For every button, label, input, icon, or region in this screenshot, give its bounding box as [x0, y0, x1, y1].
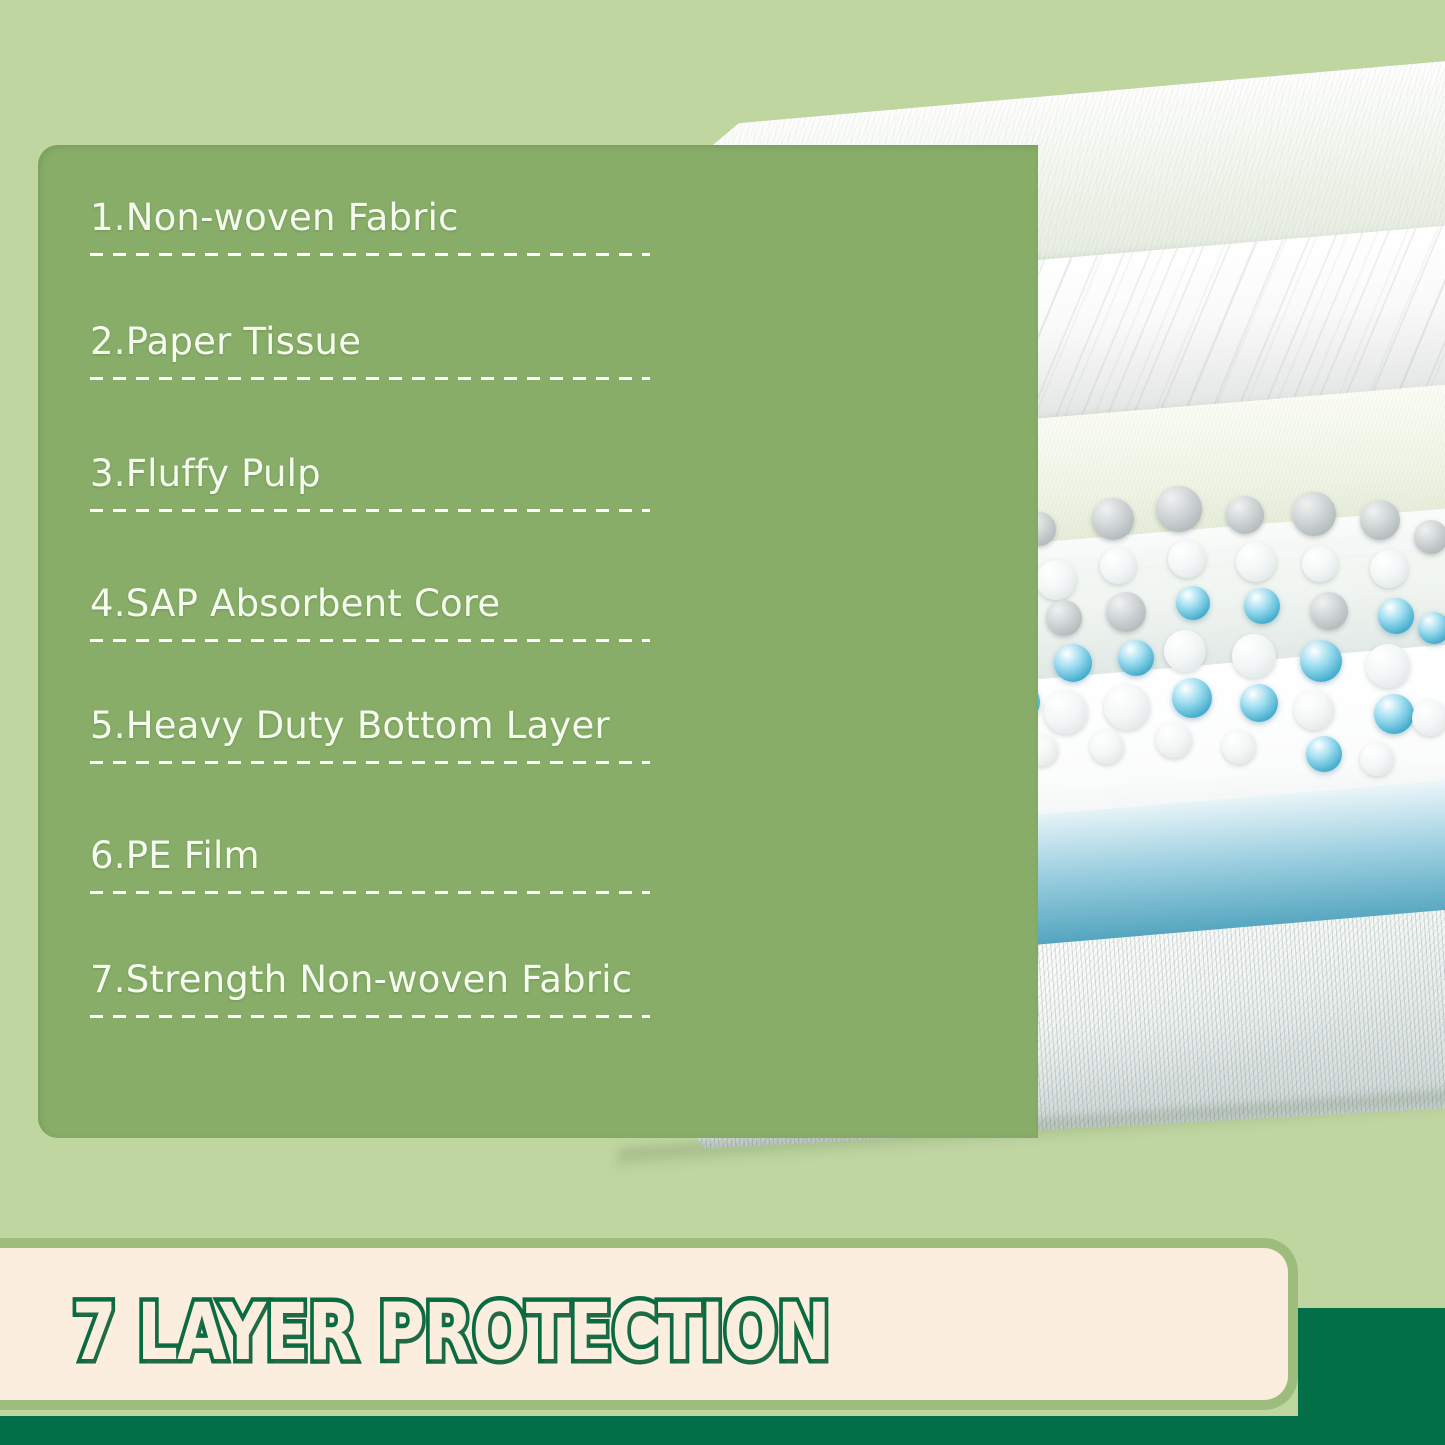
leader-line-7 [90, 1015, 650, 1018]
legend-label-nonwoven-fabric: 1.Non-woven Fabric [90, 196, 638, 239]
leader-line-4 [90, 639, 650, 642]
leader-line-5 [90, 761, 650, 764]
leader-line-1 [90, 253, 650, 256]
legend-row-2: 2.Paper Tissue [90, 320, 638, 380]
legend-row-7: 7.Strength Non-woven Fabric [90, 958, 638, 1018]
bottom-green-strip [0, 1416, 1445, 1445]
legend-row-1: 1.Non-woven Fabric [90, 196, 638, 256]
legend-label-strength-nonwoven-fabric: 7.Strength Non-woven Fabric [90, 958, 638, 1001]
infographic-stage: 1.Non-woven Fabric 2.Paper Tissue 3.Fluf… [0, 0, 1445, 1445]
headline-title: 7 LAYER PROTECTION [72, 1288, 830, 1378]
legend-label-fluffy-pulp: 3.Fluffy Pulp [90, 452, 638, 495]
leader-line-2 [90, 377, 650, 380]
legend-label-pe-film: 6.PE Film [90, 834, 638, 877]
leader-line-3 [90, 509, 650, 512]
legend-row-5: 5.Heavy Duty Bottom Layer [90, 704, 638, 764]
legend-label-heavy-duty-bottom-layer: 5.Heavy Duty Bottom Layer [90, 704, 638, 747]
legend-label-paper-tissue: 2.Paper Tissue [90, 320, 638, 363]
leader-line-6 [90, 891, 650, 894]
legend-row-3: 3.Fluffy Pulp [90, 452, 638, 512]
legend-row-4: 4.SAP Absorbent Core [90, 582, 638, 642]
legend-label-sap-absorbent-core: 4.SAP Absorbent Core [90, 582, 638, 625]
legend-row-6: 6.PE Film [90, 834, 638, 894]
